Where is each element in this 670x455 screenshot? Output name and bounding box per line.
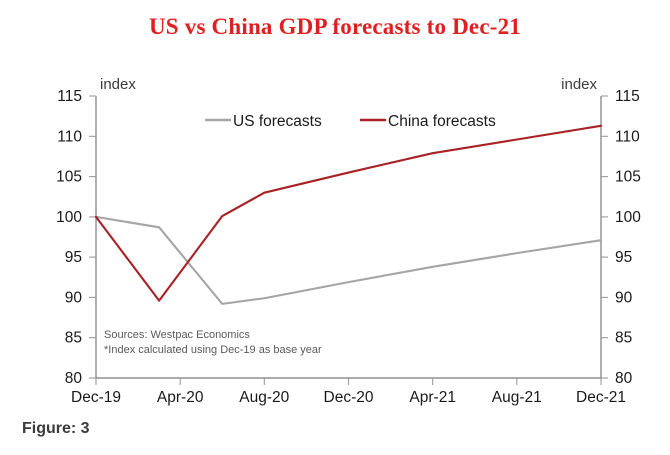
y-tick-label-80-right: 80 xyxy=(615,370,633,387)
y-tick-label-100-right: 100 xyxy=(615,209,641,226)
source-line-1: Sources: Westpac Economics xyxy=(104,329,250,341)
x-tick-label-apr-20: Apr-20 xyxy=(157,389,204,406)
y-tick-label-115-left: 115 xyxy=(57,88,82,105)
y-tick-label-110-right: 110 xyxy=(615,128,640,145)
x-tick-label-aug-20: Aug-20 xyxy=(239,389,289,406)
figure-caption: Figure: 3 xyxy=(22,420,90,438)
source-line-2: *Index calculated using Dec-19 as base y… xyxy=(104,344,322,356)
y-tick-label-110-left: 110 xyxy=(57,128,82,145)
x-tick-label-aug-21: Aug-21 xyxy=(492,389,542,406)
series-line-china xyxy=(96,126,601,301)
y-tick-label-80-left: 80 xyxy=(65,370,83,387)
y-tick-label-100-left: 100 xyxy=(56,209,82,226)
y-tick-label-95-left: 95 xyxy=(65,249,82,266)
axis-unit-left: index xyxy=(100,76,136,93)
y-tick-label-85-left: 85 xyxy=(65,330,82,347)
source-note: Sources: Westpac Economics *Index calcul… xyxy=(104,329,322,356)
x-tick-label-dec-21: Dec-21 xyxy=(576,389,626,406)
y-tick-label-105-left: 105 xyxy=(56,169,82,186)
y-tick-label-90-left: 90 xyxy=(65,289,83,306)
legend-label-us: US forecasts xyxy=(233,113,322,130)
y-tick-label-85-right: 85 xyxy=(615,330,632,347)
y-tick-label-115-right: 115 xyxy=(615,88,640,105)
chart-legend: US forecasts China forecasts xyxy=(205,113,496,130)
x-tick-label-dec-20: Dec-20 xyxy=(324,389,374,406)
y-tick-label-90-right: 90 xyxy=(615,289,633,306)
x-axis-ticks: Dec-19 Apr-20 Aug-20 Dec-20 Apr-21 Aug-2… xyxy=(71,378,626,406)
figure-root: US vs China GDP forecasts to Dec-21 115 … xyxy=(0,0,670,455)
legend-label-china: China forecasts xyxy=(388,113,496,130)
x-tick-label-dec-19: Dec-19 xyxy=(71,389,121,406)
line-chart: 115 115 110 110 105 105 100 100 95 95 90… xyxy=(0,0,670,455)
axis-unit-right: index xyxy=(561,76,597,93)
series-line-us xyxy=(96,217,601,304)
y-tick-label-95-right: 95 xyxy=(615,249,632,266)
y-tick-label-105-right: 105 xyxy=(615,169,641,186)
x-tick-label-apr-21: Apr-21 xyxy=(409,389,456,406)
